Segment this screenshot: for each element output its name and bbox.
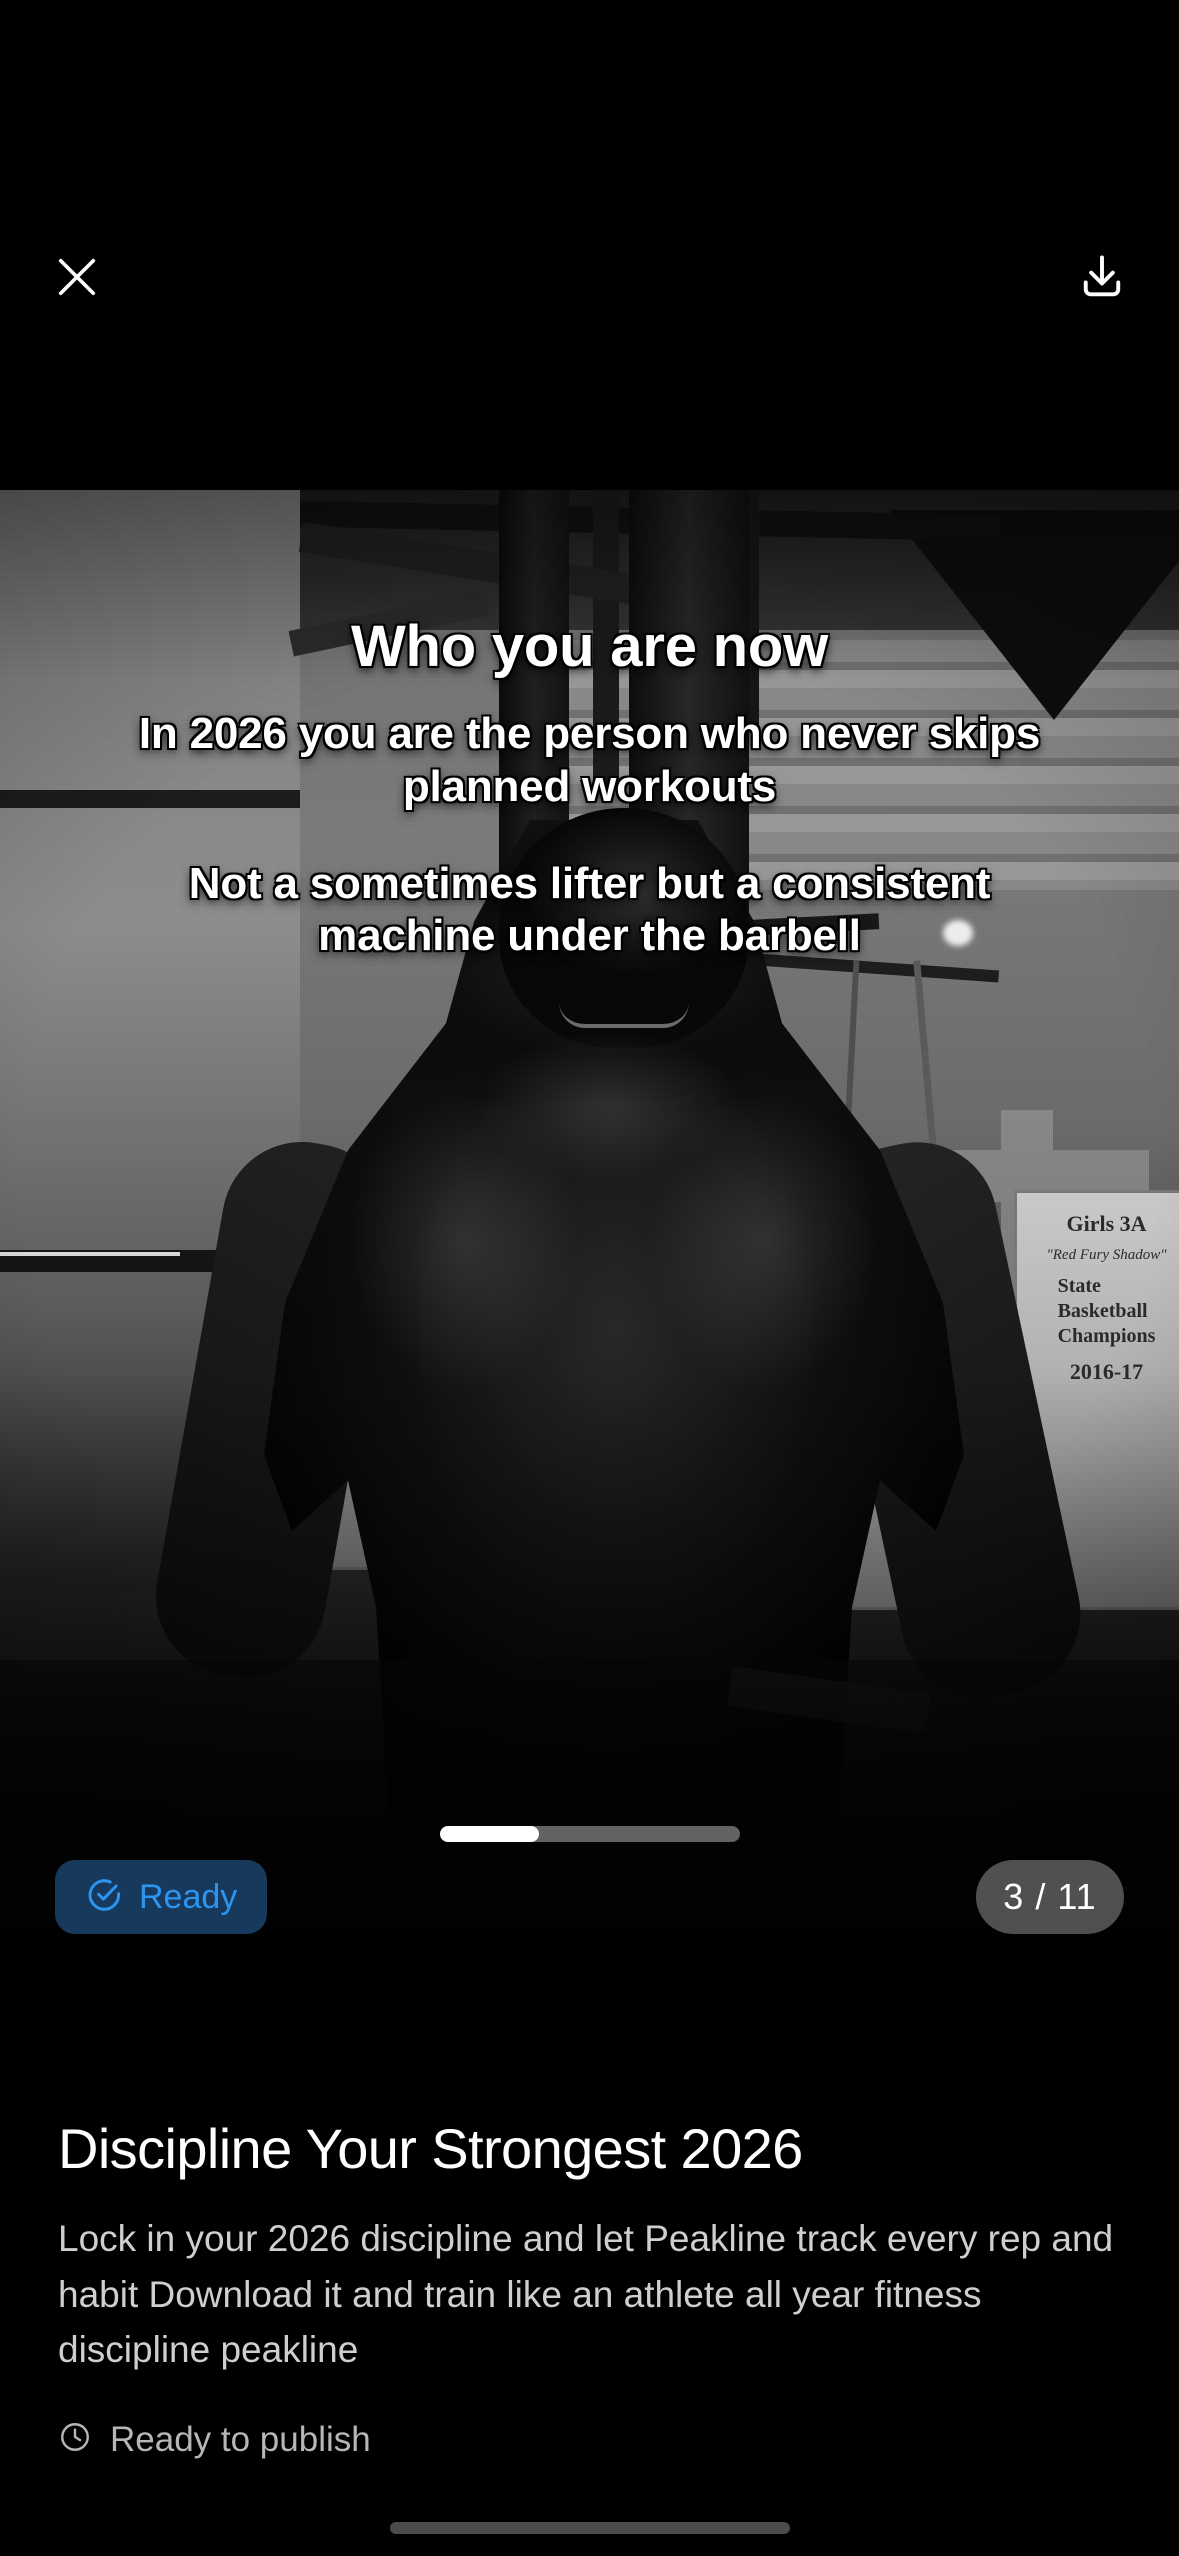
post-details-card: Discipline Your Strongest 2026 Lock in y… <box>0 2090 1179 2556</box>
post-title: Discipline Your Strongest 2026 <box>58 2090 1121 2181</box>
app-screen: Girls 3A"Red Fury Shadow"StateBasketball… <box>0 0 1179 2556</box>
publish-status: Ready to publish <box>58 2420 1121 2460</box>
download-icon <box>1076 251 1128 303</box>
status-badge-label: Ready <box>139 1878 237 1917</box>
top-bar <box>0 0 1179 490</box>
status-badge[interactable]: Ready <box>55 1860 267 1934</box>
close-icon <box>51 251 103 303</box>
page-counter-label: 3 / 11 <box>1003 1876 1096 1918</box>
check-circle-icon <box>85 1876 123 1919</box>
slide-controls: Ready 3 / 11 <box>0 1760 1179 2090</box>
home-indicator[interactable] <box>390 2522 790 2534</box>
clock-icon <box>58 2420 92 2459</box>
page-counter: 3 / 11 <box>976 1860 1124 1934</box>
post-description: Lock in your 2026 discipline and let Pea… <box>58 2211 1118 2378</box>
slide-progress-bar[interactable] <box>440 1826 740 1842</box>
download-button[interactable] <box>1047 222 1157 332</box>
publish-status-label: Ready to publish <box>110 2420 371 2460</box>
close-button[interactable] <box>22 222 132 332</box>
slide-progress-fill <box>440 1826 539 1842</box>
